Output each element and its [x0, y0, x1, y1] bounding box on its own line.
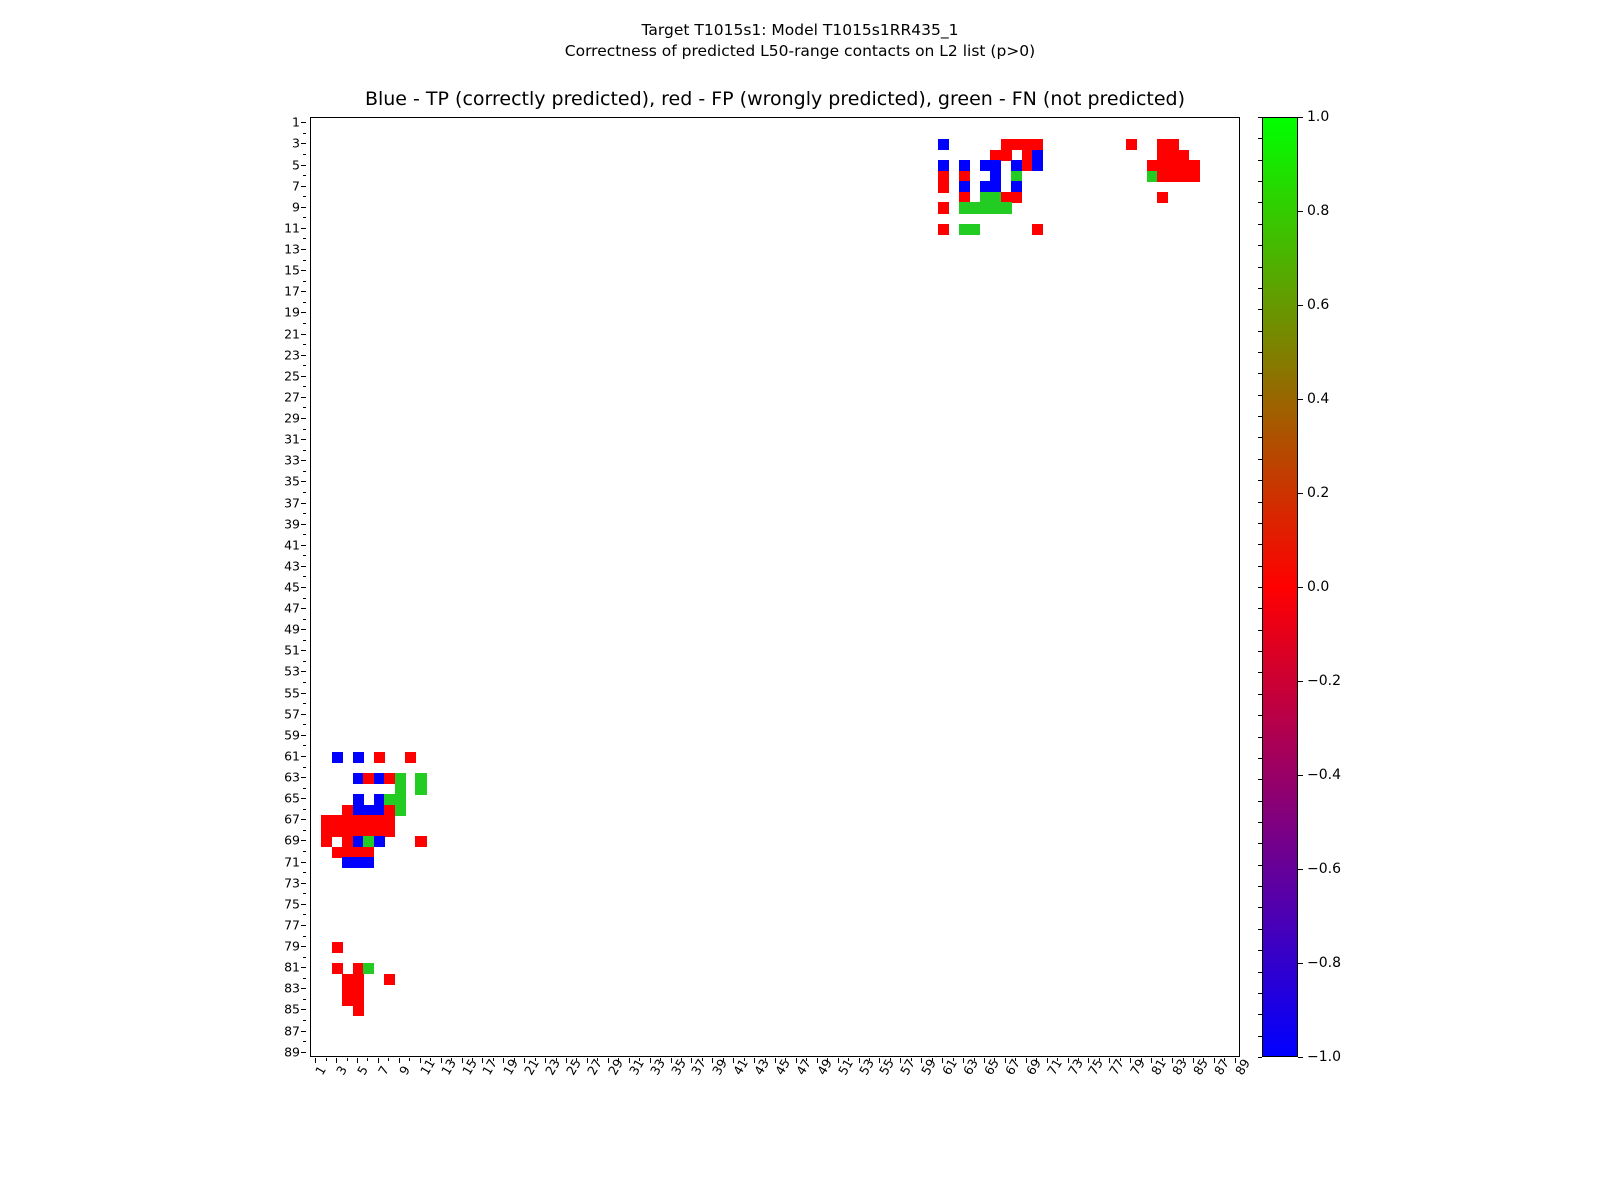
- y-axis-tick-mark: [303, 872, 306, 873]
- colorbar-minor-tick: [1258, 566, 1262, 567]
- x-axis-tick-mark: [556, 1058, 557, 1061]
- contact-cell: [990, 202, 1001, 213]
- x-axis-tick-mark: [785, 1058, 786, 1061]
- colorbar-tick-mark: [1298, 117, 1303, 118]
- y-axis-tick-mark: [303, 407, 306, 408]
- y-axis-tick-label: 77: [284, 917, 300, 932]
- x-axis-tick-mark: [660, 1058, 661, 1061]
- contact-cell: [959, 181, 970, 192]
- contact-cell: [1032, 139, 1043, 150]
- y-axis-tick-mark: [301, 270, 306, 271]
- y-axis-tick-mark: [301, 1052, 306, 1053]
- y-axis-tick-label: 17: [284, 284, 300, 299]
- y-axis: 1357911131517192123252729313335373941434…: [250, 117, 306, 1057]
- contact-cell: [363, 826, 374, 837]
- contact-cell: [332, 963, 343, 974]
- x-axis-tick-mark: [890, 1058, 891, 1061]
- y-axis-tick-label: 73: [284, 875, 300, 890]
- y-axis-tick-mark: [301, 481, 306, 482]
- y-axis-tick-mark: [303, 281, 306, 282]
- contact-cell: [1001, 192, 1012, 203]
- contact-cell: [384, 794, 395, 805]
- y-axis-tick-mark: [303, 323, 306, 324]
- x-axis-tick-mark: [1162, 1058, 1163, 1061]
- y-axis-tick-label: 71: [284, 854, 300, 869]
- contact-cell: [374, 773, 385, 784]
- contact-cell: [938, 224, 949, 235]
- x-axis-tick-mark: [1057, 1058, 1058, 1061]
- x-axis-tick-mark: [1015, 1058, 1016, 1061]
- contact-cell: [395, 783, 406, 794]
- colorbar-minor-tick: [1258, 779, 1262, 780]
- contact-cell: [374, 805, 385, 816]
- contact-cell: [353, 836, 364, 847]
- x-axis-tick-label: 5: [354, 1063, 371, 1077]
- y-axis-tick-mark: [303, 260, 306, 261]
- y-axis-tick-label: 11: [284, 220, 300, 235]
- colorbar-tick-label: 0.0: [1307, 579, 1329, 595]
- x-axis-tick-mark: [367, 1058, 368, 1061]
- x-axis-tick-mark: [472, 1058, 473, 1061]
- contact-cell: [353, 815, 364, 826]
- colorbar-minor-tick: [1258, 224, 1262, 225]
- y-axis-tick-mark: [301, 460, 306, 461]
- contact-cell: [384, 826, 395, 837]
- y-axis-tick-mark: [303, 767, 306, 768]
- y-axis-tick-mark: [301, 1009, 306, 1010]
- y-axis-tick-label: 19: [284, 305, 300, 320]
- contact-cell: [384, 773, 395, 784]
- y-axis-tick-mark: [303, 238, 306, 239]
- colorbar-tick-mark: [1298, 963, 1303, 964]
- contact-cell: [1001, 202, 1012, 213]
- colorbar-minor-tick: [1258, 523, 1262, 524]
- y-axis-tick-mark: [301, 904, 306, 905]
- colorbar-tick-label: −1.0: [1307, 1049, 1341, 1065]
- contact-cell: [990, 171, 1001, 182]
- y-axis-tick-mark: [303, 957, 306, 958]
- y-axis-tick-mark: [301, 608, 306, 609]
- y-axis-tick-mark: [303, 682, 306, 683]
- colorbar-tick-label: −0.6: [1307, 861, 1341, 877]
- x-axis-tick-mark: [1078, 1058, 1079, 1061]
- y-axis-tick-mark: [303, 302, 306, 303]
- contact-cell: [980, 202, 991, 213]
- contact-cell: [1032, 224, 1043, 235]
- y-axis-tick-mark: [301, 503, 306, 504]
- colorbar-minor-tick: [1258, 181, 1262, 182]
- colorbar-tick-mark: [1298, 211, 1303, 212]
- contact-cell-layer: [311, 118, 1239, 1056]
- contact-cell: [332, 847, 343, 858]
- contact-cell: [1178, 160, 1189, 171]
- y-axis-tick-label: 75: [284, 896, 300, 911]
- y-axis-tick-mark: [301, 693, 306, 694]
- y-axis-tick-mark: [301, 629, 306, 630]
- contact-cell: [1011, 192, 1022, 203]
- contact-cell: [342, 847, 353, 858]
- x-axis-tick-mark: [1183, 1058, 1184, 1061]
- x-axis-tick-mark: [1141, 1058, 1142, 1061]
- y-axis-tick-mark: [301, 397, 306, 398]
- contact-cell: [1189, 160, 1200, 171]
- contact-cell: [938, 171, 949, 182]
- y-axis-tick-label: 39: [284, 516, 300, 531]
- colorbar-minor-ticks: [1252, 117, 1262, 1057]
- x-axis-tick-mark: [430, 1058, 431, 1061]
- x-axis-tick-mark: [869, 1058, 870, 1061]
- colorbar-tick-mark: [1298, 399, 1303, 400]
- contact-cell: [959, 160, 970, 171]
- colorbar-tick-label: 0.8: [1307, 203, 1329, 219]
- x-axis-tick-mark: [953, 1058, 954, 1061]
- y-axis-tick-mark: [303, 133, 306, 134]
- y-axis-tick-mark: [303, 450, 306, 451]
- contact-cell: [405, 752, 416, 763]
- contact-cell: [1022, 150, 1033, 161]
- y-axis-tick-label: 5: [292, 157, 300, 172]
- contact-cell: [1178, 150, 1189, 161]
- x-axis-tick-mark: [409, 1058, 410, 1061]
- y-axis-tick-mark: [301, 967, 306, 968]
- x-axis-tick-label: 7: [375, 1063, 392, 1077]
- contact-cell: [353, 805, 364, 816]
- contact-cell: [332, 826, 343, 837]
- colorbar-minor-tick: [1258, 929, 1262, 930]
- contact-cell: [353, 773, 364, 784]
- contact-cell: [342, 805, 353, 816]
- contact-cell: [1157, 139, 1168, 150]
- y-axis-tick-mark: [301, 376, 306, 377]
- x-axis-tick-mark: [451, 1058, 452, 1061]
- y-axis-tick-mark: [301, 143, 306, 144]
- colorbar-minor-tick: [1258, 138, 1262, 139]
- y-axis-tick-label: 29: [284, 411, 300, 426]
- x-axis-tick-mark: [576, 1058, 577, 1061]
- contact-cell: [415, 836, 426, 847]
- contact-cell: [1001, 150, 1012, 161]
- y-axis-tick-mark: [301, 249, 306, 250]
- contact-cell: [374, 826, 385, 837]
- contact-cell: [1168, 160, 1179, 171]
- x-axis-tick-mark: [827, 1058, 828, 1061]
- chart-title-block: Target T1015s1: Model T1015s1RR435_1 Cor…: [0, 20, 1600, 62]
- y-axis-tick-mark: [303, 851, 306, 852]
- contact-cell: [384, 805, 395, 816]
- x-axis-tick-mark: [744, 1058, 745, 1061]
- y-axis-tick-mark: [301, 862, 306, 863]
- contact-cell: [353, 826, 364, 837]
- x-axis-tick-mark: [806, 1058, 807, 1061]
- contact-cell: [1157, 150, 1168, 161]
- y-axis-tick-mark: [303, 978, 306, 979]
- colorbar-tick-mark: [1298, 1057, 1303, 1058]
- colorbar-minor-tick: [1258, 352, 1262, 353]
- y-axis-tick-label: 83: [284, 981, 300, 996]
- y-axis-tick-mark: [303, 471, 306, 472]
- y-axis-tick-mark: [301, 671, 306, 672]
- colorbar-minor-tick: [1258, 758, 1262, 759]
- contact-cell: [969, 224, 980, 235]
- contact-cell: [1178, 171, 1189, 182]
- colorbar-minor-tick: [1258, 801, 1262, 802]
- y-axis-tick-mark: [301, 312, 306, 313]
- contact-cell: [342, 826, 353, 837]
- colorbar[interactable]: 1.00.80.60.40.20.0−0.2−0.4−0.6−0.8−1.0: [1262, 117, 1298, 1057]
- y-axis-tick-label: 15: [284, 263, 300, 278]
- contact-cell: [395, 773, 406, 784]
- contact-cell: [363, 815, 374, 826]
- contact-cell: [332, 815, 343, 826]
- x-axis-tick-mark: [347, 1058, 348, 1061]
- y-axis-tick-mark: [303, 788, 306, 789]
- colorbar-minor-tick: [1258, 672, 1262, 673]
- y-axis-tick-mark: [303, 492, 306, 493]
- contact-cell: [374, 752, 385, 763]
- contact-cell: [1011, 171, 1022, 182]
- contact-cell: [321, 826, 332, 837]
- y-axis-tick-mark: [303, 217, 306, 218]
- y-axis-tick-label: 81: [284, 960, 300, 975]
- y-axis-tick-label: 67: [284, 812, 300, 827]
- x-axis-tick-mark: [1203, 1058, 1204, 1061]
- colorbar-minor-tick: [1258, 459, 1262, 460]
- colorbar-minor-tick: [1258, 1036, 1262, 1037]
- contact-cell: [332, 752, 343, 763]
- colorbar-minor-tick: [1258, 651, 1262, 652]
- chart-title-line-2: Correctness of predicted L50-range conta…: [0, 41, 1600, 62]
- y-axis-tick-mark: [301, 883, 306, 884]
- contact-cell: [980, 181, 991, 192]
- y-axis-tick-label: 43: [284, 558, 300, 573]
- colorbar-tick-label: −0.2: [1307, 673, 1341, 689]
- y-axis-tick-mark: [303, 830, 306, 831]
- y-axis-tick-mark: [301, 798, 306, 799]
- contact-cell: [1189, 171, 1200, 182]
- y-axis-tick-mark: [301, 777, 306, 778]
- contact-cell: [980, 192, 991, 203]
- y-axis-tick-mark: [301, 840, 306, 841]
- contact-cell: [353, 1005, 364, 1016]
- contact-cell: [1168, 150, 1179, 161]
- colorbar-minor-tick: [1258, 437, 1262, 438]
- chart-legend-subtitle: Blue - TP (correctly predicted), red - F…: [310, 88, 1240, 110]
- x-axis: 1357911131517192123252729313335373941434…: [310, 1058, 1240, 1118]
- chart-title-line-1: Target T1015s1: Model T1015s1RR435_1: [0, 20, 1600, 41]
- contact-cell: [342, 984, 353, 995]
- contact-cell: [1168, 171, 1179, 182]
- colorbar-minor-tick: [1258, 907, 1262, 908]
- y-axis-tick-mark: [303, 936, 306, 937]
- contact-cell: [321, 836, 332, 847]
- colorbar-minor-tick: [1258, 950, 1262, 951]
- colorbar-minor-tick: [1258, 544, 1262, 545]
- y-axis-tick-mark: [303, 154, 306, 155]
- colorbar-minor-tick: [1258, 972, 1262, 973]
- colorbar-tick-mark: [1298, 587, 1303, 588]
- contact-cell: [1168, 139, 1179, 150]
- y-axis-tick-mark: [301, 334, 306, 335]
- contact-map-plot[interactable]: [310, 117, 1240, 1057]
- colorbar-tick-label: 1.0: [1307, 109, 1329, 125]
- y-axis-tick-mark: [303, 386, 306, 387]
- contact-cell: [415, 783, 426, 794]
- contact-cell: [1011, 181, 1022, 192]
- contact-cell: [1157, 171, 1168, 182]
- y-axis-tick-mark: [303, 724, 306, 725]
- colorbar-minor-tick: [1258, 416, 1262, 417]
- y-axis-tick-label: 27: [284, 389, 300, 404]
- colorbar-gradient: [1262, 117, 1298, 1057]
- x-axis-tick-mark: [326, 1058, 327, 1061]
- colorbar-tick-mark: [1298, 493, 1303, 494]
- y-axis-tick-label: 47: [284, 601, 300, 616]
- y-axis-tick-mark: [301, 207, 306, 208]
- y-axis-tick-mark: [303, 344, 306, 345]
- y-axis-tick-mark: [301, 735, 306, 736]
- contact-cell: [363, 805, 374, 816]
- y-axis-tick-mark: [301, 186, 306, 187]
- y-axis-tick-label: 61: [284, 748, 300, 763]
- contact-cell: [1157, 160, 1168, 171]
- contact-cell: [1147, 171, 1158, 182]
- colorbar-minor-tick: [1258, 202, 1262, 203]
- x-axis-tick-mark: [848, 1058, 849, 1061]
- y-axis-tick-label: 23: [284, 347, 300, 362]
- y-axis-tick-label: 89: [284, 1044, 300, 1059]
- y-axis-tick-mark: [301, 291, 306, 292]
- y-axis-tick-mark: [301, 946, 306, 947]
- contact-cell: [938, 139, 949, 150]
- contact-cell: [938, 160, 949, 171]
- y-axis-tick-mark: [303, 1041, 306, 1042]
- colorbar-minor-tick: [1258, 822, 1262, 823]
- x-axis-tick-label: 3: [333, 1063, 350, 1077]
- y-axis-tick-mark: [301, 122, 306, 123]
- colorbar-tick-mark: [1298, 775, 1303, 776]
- contact-cell: [990, 160, 1001, 171]
- y-axis-tick-label: 69: [284, 833, 300, 848]
- contact-cell: [363, 836, 374, 847]
- colorbar-minor-tick: [1258, 395, 1262, 396]
- contact-cell: [342, 974, 353, 985]
- x-axis-tick-label: 9: [396, 1063, 413, 1077]
- contact-cell: [374, 815, 385, 826]
- colorbar-minor-tick: [1258, 737, 1262, 738]
- x-axis-tick-mark: [723, 1058, 724, 1061]
- y-axis-tick-label: 63: [284, 770, 300, 785]
- contact-cell: [353, 857, 364, 868]
- y-axis-tick-mark: [301, 439, 306, 440]
- y-axis-tick-label: 85: [284, 1002, 300, 1017]
- contact-cell: [990, 181, 1001, 192]
- contact-cell: [938, 181, 949, 192]
- y-axis-tick-mark: [301, 988, 306, 989]
- colorbar-minor-tick: [1258, 1014, 1262, 1015]
- y-axis-tick-mark: [303, 914, 306, 915]
- colorbar-minor-tick: [1258, 1057, 1262, 1058]
- contact-cell: [1011, 139, 1022, 150]
- y-axis-tick-mark: [301, 524, 306, 525]
- y-axis-tick-mark: [301, 714, 306, 715]
- colorbar-minor-tick: [1258, 694, 1262, 695]
- y-axis-tick-label: 1: [292, 115, 300, 130]
- y-axis-tick-label: 57: [284, 706, 300, 721]
- colorbar-minor-tick: [1258, 715, 1262, 716]
- x-axis-tick-mark: [932, 1058, 933, 1061]
- contact-cell: [363, 773, 374, 784]
- colorbar-tick-label: 0.4: [1307, 391, 1329, 407]
- contact-cell: [384, 974, 395, 985]
- y-axis-tick-mark: [301, 566, 306, 567]
- contact-cell: [1032, 160, 1043, 171]
- x-axis-tick-mark: [911, 1058, 912, 1061]
- contact-cell: [1022, 160, 1033, 171]
- colorbar-minor-tick: [1258, 245, 1262, 246]
- colorbar-minor-tick: [1258, 480, 1262, 481]
- colorbar-tick-label: 0.6: [1307, 297, 1329, 313]
- colorbar-tick-label: −0.4: [1307, 767, 1341, 783]
- y-axis-tick-label: 13: [284, 242, 300, 257]
- contact-cell: [353, 963, 364, 974]
- colorbar-minor-tick: [1258, 160, 1262, 161]
- colorbar-minor-tick: [1258, 267, 1262, 268]
- y-axis-tick-mark: [301, 587, 306, 588]
- contact-cell: [959, 192, 970, 203]
- y-axis-tick-label: 79: [284, 939, 300, 954]
- y-axis-tick-mark: [303, 809, 306, 810]
- contact-cell: [384, 815, 395, 826]
- contact-cell: [980, 160, 991, 171]
- contact-cell: [321, 815, 332, 826]
- contact-cell: [363, 857, 374, 868]
- x-axis-tick-mark: [1099, 1058, 1100, 1061]
- contact-cell: [1011, 160, 1022, 171]
- contact-cell: [363, 963, 374, 974]
- y-axis-tick-mark: [303, 745, 306, 746]
- colorbar-tick-mark: [1298, 305, 1303, 306]
- y-axis-tick-mark: [303, 365, 306, 366]
- colorbar-minor-tick: [1258, 373, 1262, 374]
- colorbar-minor-tick: [1258, 331, 1262, 332]
- contact-cell: [938, 202, 949, 213]
- x-axis-tick-mark: [681, 1058, 682, 1061]
- x-axis-tick-mark: [765, 1058, 766, 1061]
- y-axis-tick-label: 21: [284, 326, 300, 341]
- contact-cell: [1032, 150, 1043, 161]
- y-axis-tick-mark: [303, 893, 306, 894]
- colorbar-minor-tick: [1258, 587, 1262, 588]
- contact-cell: [332, 942, 343, 953]
- contact-cell: [969, 202, 980, 213]
- y-axis-tick-mark: [301, 756, 306, 757]
- x-axis-tick-mark: [493, 1058, 494, 1061]
- y-axis-tick-label: 3: [292, 136, 300, 151]
- x-axis-tick-mark: [388, 1058, 389, 1061]
- y-axis-tick-mark: [303, 534, 306, 535]
- colorbar-tick-label: −0.8: [1307, 955, 1341, 971]
- x-axis-tick-mark: [535, 1058, 536, 1061]
- colorbar-minor-tick: [1258, 502, 1262, 503]
- contact-cell: [353, 847, 364, 858]
- x-axis-tick-mark: [994, 1058, 995, 1061]
- colorbar-tick-mark: [1298, 869, 1303, 870]
- contact-cell: [342, 857, 353, 868]
- y-axis-tick-mark: [303, 513, 306, 514]
- x-axis-tick-mark: [514, 1058, 515, 1061]
- y-axis-tick-mark: [301, 545, 306, 546]
- contact-cell: [395, 794, 406, 805]
